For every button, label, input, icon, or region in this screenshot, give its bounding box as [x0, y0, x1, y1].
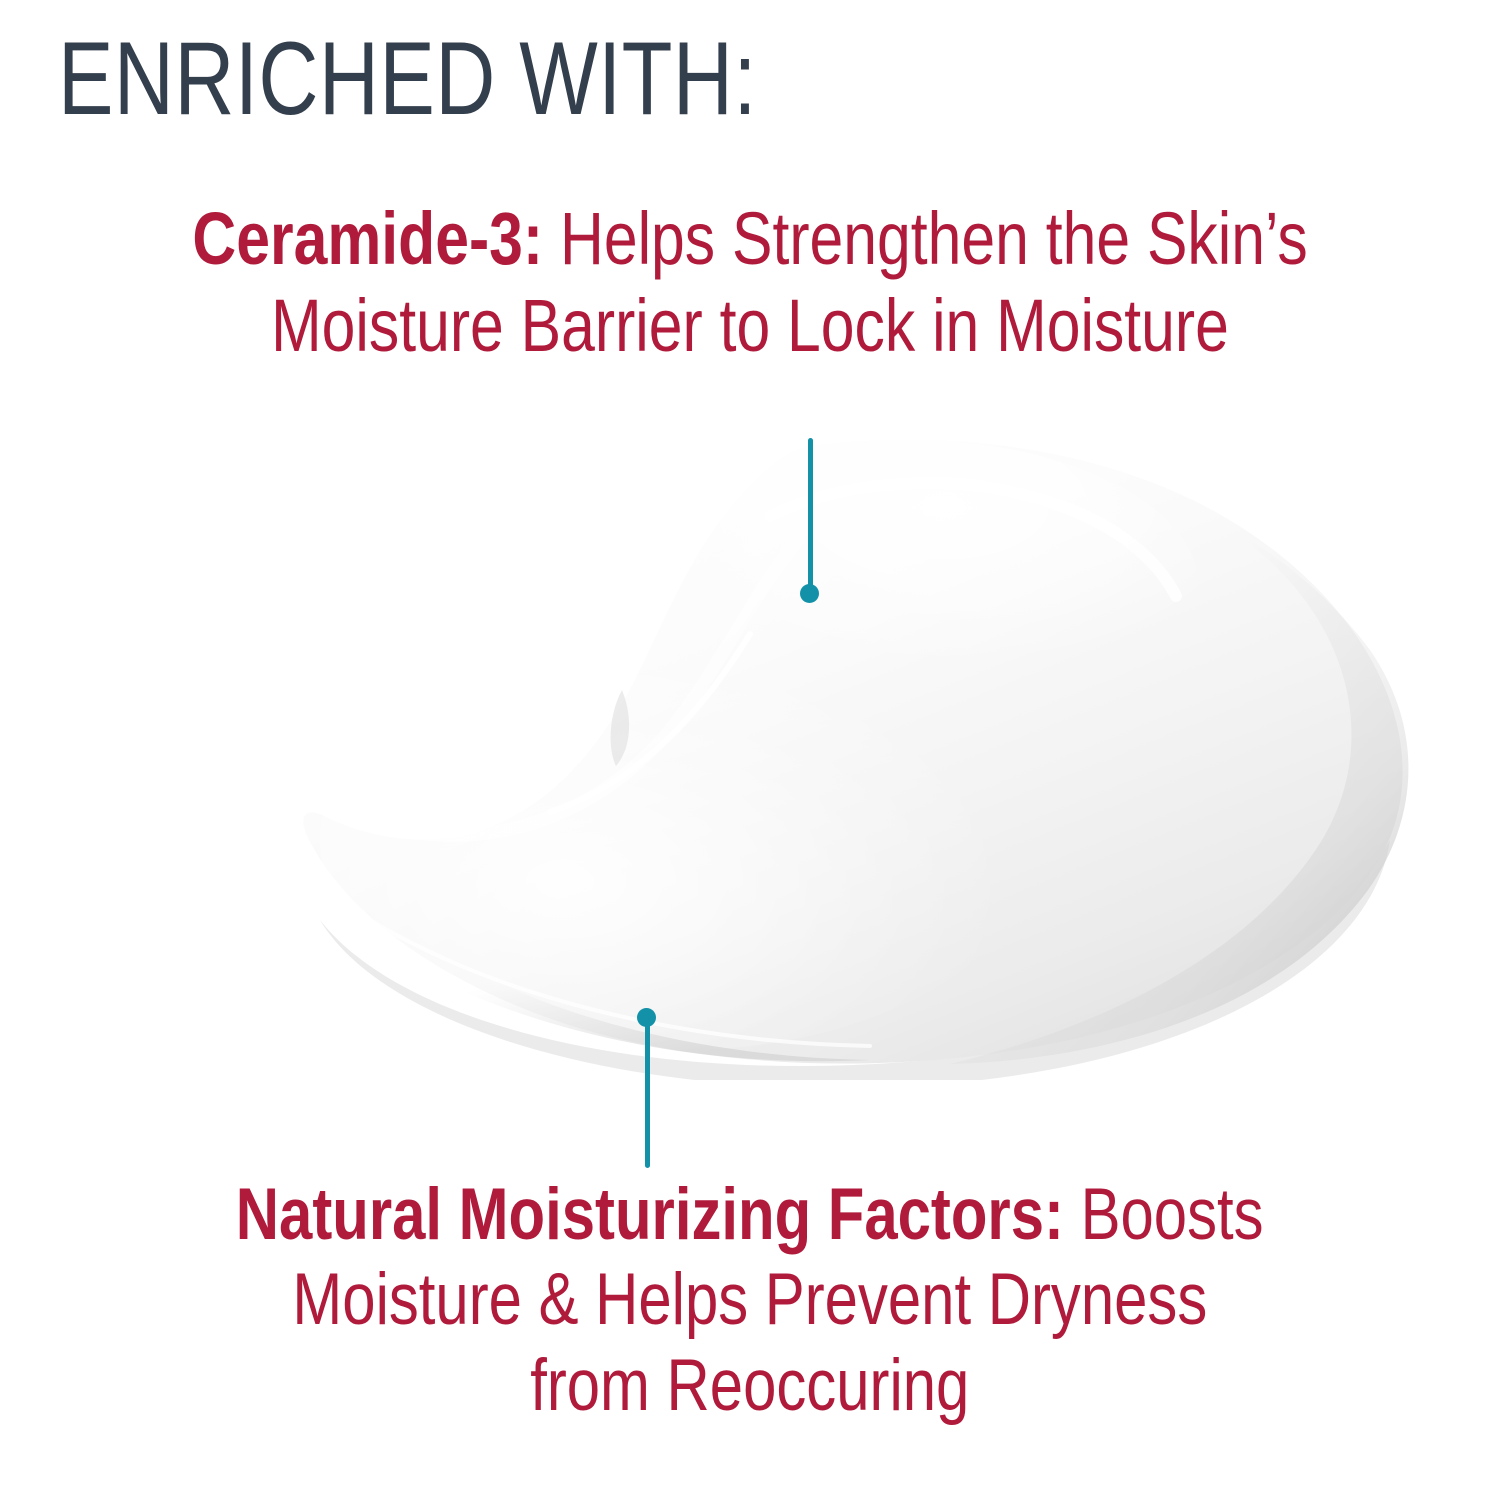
benefit-name-natural-moisturizing-factors: Natural Moisturizing Factors: — [236, 1174, 1064, 1255]
benefit-description-line-2: Moisture Barrier to Lock in Moisture — [271, 283, 1229, 370]
benefit-name-ceramide-3: Ceramide-3: — [192, 197, 543, 280]
callout-line-icon — [645, 1020, 650, 1168]
benefit-description-line-2: Moisture & Helps Prevent Dryness — [293, 1257, 1208, 1342]
cream-swatch-image — [250, 420, 1450, 1080]
benefit-text-ceramide-3: Ceramide-3: Helps Strengthen the Skin’s … — [0, 196, 1500, 369]
page-title: ENRICHED WITH: — [58, 26, 938, 132]
benefit-description-line-3: from Reoccuring — [530, 1343, 969, 1428]
callout-line-icon — [808, 438, 813, 593]
product-benefits-infographic: ENRICHED WITH: — [0, 0, 1500, 1500]
callout-dot-icon — [800, 584, 819, 603]
callout-pointer-ceramide-3 — [800, 438, 840, 618]
benefit-text-natural-moisturizing-factors: Natural Moisturizing Factors: Boosts Moi… — [0, 1172, 1500, 1428]
callout-pointer-natural-moisturizing-factors — [637, 1008, 677, 1173]
benefit-description-line-1: Boosts — [1064, 1174, 1264, 1255]
benefit-description-line-1: Helps Strengthen the Skin’s — [543, 197, 1308, 280]
